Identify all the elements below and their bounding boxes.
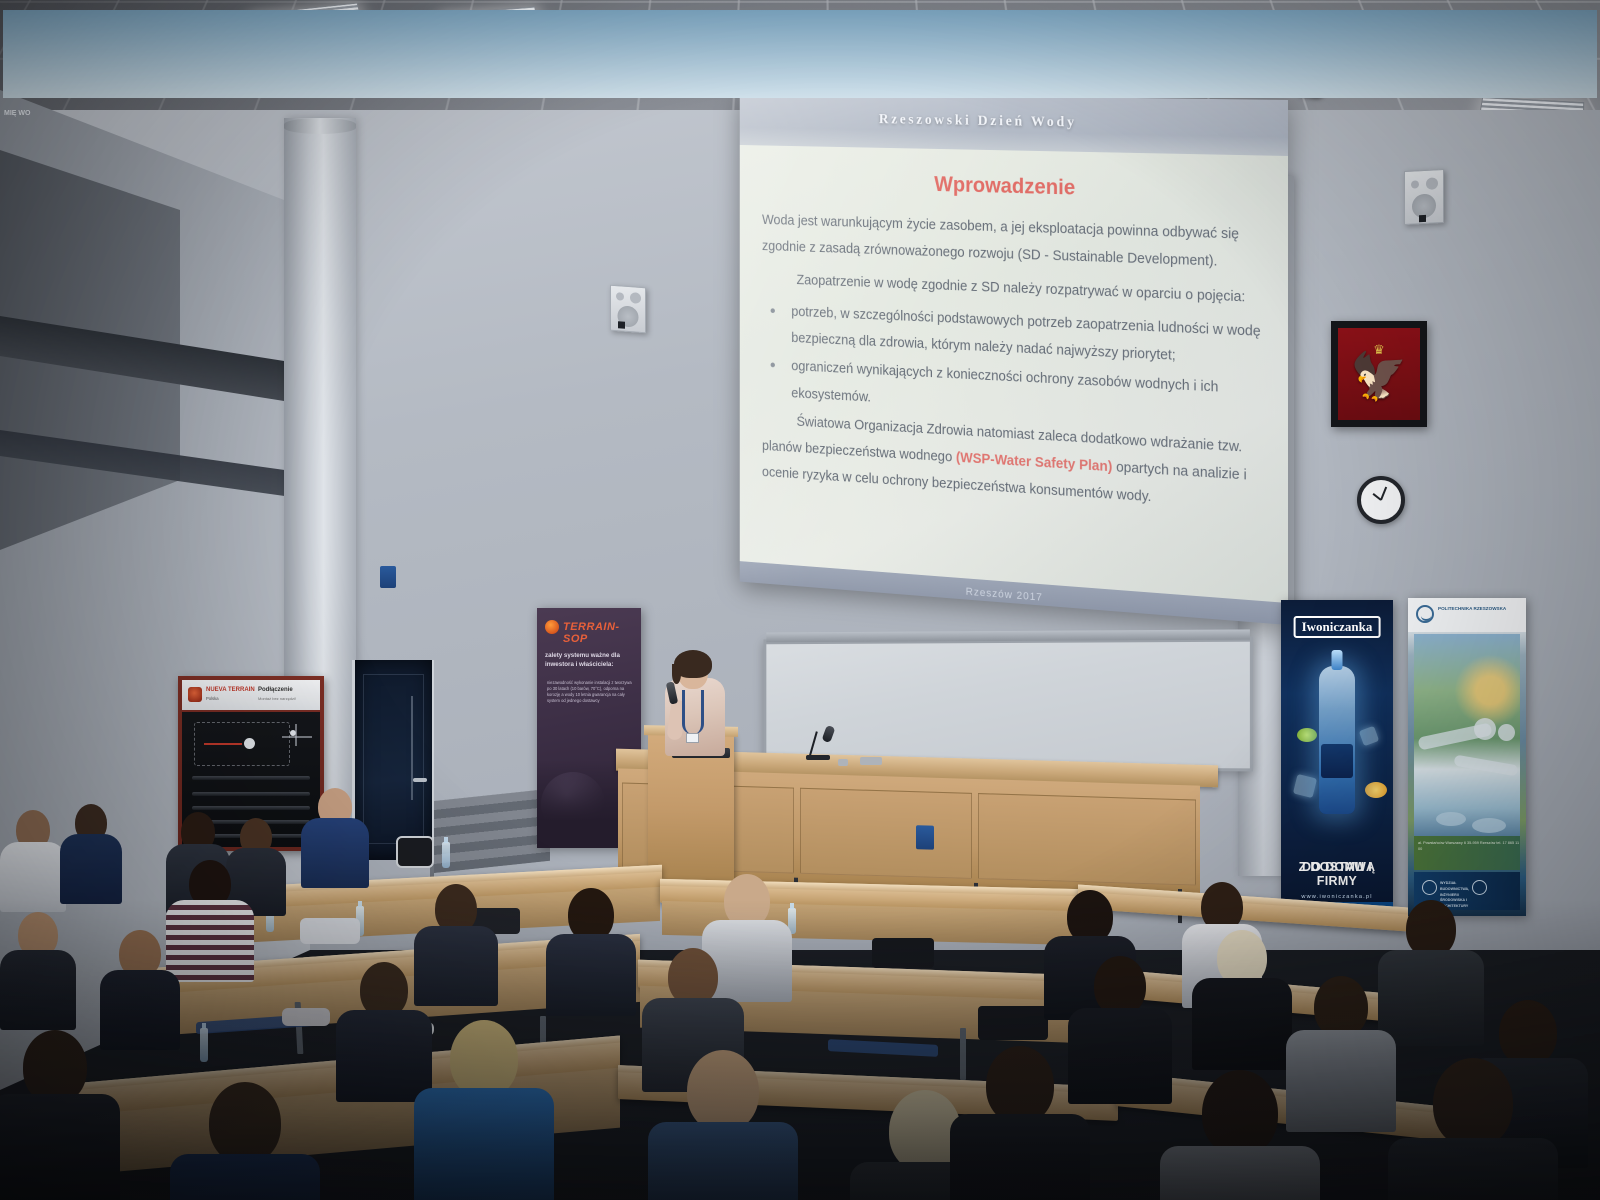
person-torso [301, 818, 369, 888]
audience-person [546, 888, 636, 1000]
panel-pipe-sample [192, 776, 310, 780]
panel-valve-icon [244, 738, 255, 749]
speaker-tweeter [616, 292, 624, 301]
university-banner-image [1414, 634, 1520, 852]
person-torso [1388, 1138, 1558, 1200]
banner-iwoniczanka: Iwoniczanka Z DOSTAWĄ DO DOMU I FIRMY ww… [1281, 600, 1393, 912]
person-torso [546, 934, 636, 1016]
audience-person [0, 810, 66, 906]
nueva-terrain-logo-icon [188, 687, 202, 702]
column-cap [284, 118, 356, 134]
ice-cube-icon [1293, 774, 1317, 798]
person-torso [648, 1122, 798, 1200]
panel-brand-sub: Polska [206, 696, 219, 701]
desk-placard [916, 825, 934, 850]
audience-person [60, 804, 122, 900]
audience-person [100, 930, 180, 1040]
bottle-icon [1319, 666, 1355, 814]
panel-pipe-line [204, 743, 242, 745]
person-torso [1192, 978, 1292, 1070]
far-banner-image [3, 10, 1597, 98]
slide-header-text: Rzeszowski Dzień Wody [879, 112, 1077, 132]
water-bottle-icon [200, 1028, 208, 1062]
speaker-tweeter [630, 292, 641, 304]
wall-speaker-icon [610, 285, 646, 334]
university-banner-header: POLITECHNIKA RZESZOWSKA [1408, 598, 1526, 632]
person-torso [170, 1154, 320, 1200]
tank-graphic [1474, 718, 1496, 740]
desk-panel [800, 788, 972, 879]
person-head [986, 1046, 1054, 1124]
folded-jacket [300, 918, 360, 944]
speaker-led [618, 321, 625, 328]
projection-screen: Rzeszowski Dzień Wody Wprowadzenie Woda … [740, 93, 1288, 625]
folded-scarf [282, 1008, 330, 1026]
person-torso [950, 1114, 1090, 1200]
audience-person [1388, 1058, 1558, 1200]
person-head [23, 1030, 87, 1104]
audience-person [0, 1030, 120, 1200]
person-torso [0, 1094, 120, 1200]
panel-header: NUEVA TERRAIN Polska Podłączenie Montaż … [182, 680, 320, 710]
university-institution: POLITECHNIKA RZESZOWSKA [1438, 606, 1506, 613]
person-head [450, 1020, 518, 1098]
desk-control-unit [838, 759, 848, 766]
person-head [1314, 976, 1368, 1038]
wall-speaker-icon [1404, 169, 1444, 225]
audience-person [414, 1020, 554, 1200]
wall-clock-icon [1357, 476, 1405, 524]
person-torso [60, 834, 122, 904]
pipe-graphic [1454, 755, 1519, 777]
audience-person [1160, 1070, 1320, 1200]
panel-product: Podłączenie [258, 687, 293, 693]
person-torso [0, 950, 76, 1030]
lecture-hall-photo: ♛ 🦅 Rzeszowski Dzień Wody Wprowadzenie W… [0, 0, 1600, 1200]
university-address-band: al. Powstańców Warszawy 6 35-959 Rzeszów… [1414, 836, 1520, 870]
faculty-logo-icon [1472, 880, 1487, 895]
audience-person [0, 912, 76, 1022]
terrain-body-text: niezawodność wykonanie instalacji z twor… [547, 680, 635, 705]
presenter-hair [674, 650, 712, 678]
whiteboard-rail [766, 629, 1250, 642]
terrain-subtitle: zalety systemu ważne dla inwestora i wła… [545, 652, 635, 670]
person-torso [0, 842, 66, 912]
handbag-icon [978, 1006, 1048, 1040]
faculty-logo-icon [1422, 880, 1437, 895]
door-edge-strip [411, 696, 413, 800]
whiteboard [763, 637, 1253, 772]
bottle-label [1321, 744, 1353, 778]
panel-pipe-sample [192, 806, 310, 810]
presenter-lanyard [682, 690, 704, 734]
handbag-icon [872, 938, 934, 968]
terrain-logo-icon [545, 620, 559, 634]
iwoniczanka-brand: Iwoniczanka [1294, 616, 1381, 638]
panel-product-sub: Montaż bez narzędzi! [258, 696, 296, 701]
presenter-badge [686, 733, 699, 743]
university-logo-icon [1416, 605, 1434, 623]
door-panel [363, 674, 424, 844]
water-bottle-icon [442, 842, 450, 868]
panel-brand: NUEVA TERRAIN [206, 687, 255, 693]
audience-person [950, 1046, 1090, 1200]
slide-content: Woda jest warunkującym życie zasobem, a … [762, 207, 1272, 526]
person-head [1094, 956, 1146, 1016]
person-head [1433, 1058, 1513, 1148]
person-torso [414, 1088, 554, 1200]
tank-graphic [1472, 818, 1506, 833]
seat-cushion [828, 1039, 938, 1057]
panel-pipe-line [295, 724, 297, 746]
banner-politechnika-rzeszowska: POLITECHNIKA RZESZOWSKA al. Powstańców W… [1408, 598, 1526, 916]
door-handle[interactable] [413, 778, 427, 782]
speaker-tweeter [1411, 180, 1419, 188]
audience-person [170, 1082, 320, 1200]
desk-control-unit [860, 757, 882, 765]
person-head [1499, 1000, 1557, 1066]
slide-highlight-wsp: (WSP-Water Safety Plan) [956, 450, 1112, 475]
ice-cube-icon [1359, 726, 1380, 747]
polish-eagle-emblem: ♛ 🦅 [1331, 321, 1427, 427]
panel-pipe-sample [192, 792, 310, 796]
speaker-led [1419, 215, 1426, 222]
lemon-slice-icon [1365, 782, 1387, 798]
iwoniczanka-line-2: DO DOMU I FIRMY [1281, 860, 1393, 888]
person-head [209, 1082, 281, 1164]
person-head [687, 1050, 759, 1132]
panel-pipe-line [282, 736, 312, 738]
audience-person [300, 788, 370, 884]
tank-graphic [1498, 724, 1515, 741]
person-torso [1160, 1146, 1320, 1200]
terrain-brand: TERRAIN-SOP [563, 621, 641, 645]
tank-graphic [1436, 812, 1466, 826]
university-address: al. Powstańców Warszawy 6 35-959 Rzeszów… [1418, 840, 1520, 852]
speaker-tweeter [1426, 177, 1438, 190]
picture-frame [396, 836, 434, 868]
audience-person [648, 1050, 798, 1200]
wall-notice [380, 566, 396, 588]
microphone-base [806, 755, 830, 760]
far-banner-text: MIĘ WO [4, 108, 30, 119]
desk-panel [978, 793, 1196, 885]
audience-person [1192, 930, 1292, 1056]
eagle-icon: 🦅 [1350, 353, 1407, 399]
lime-slice-icon [1297, 728, 1317, 742]
person-head [1202, 1070, 1278, 1156]
